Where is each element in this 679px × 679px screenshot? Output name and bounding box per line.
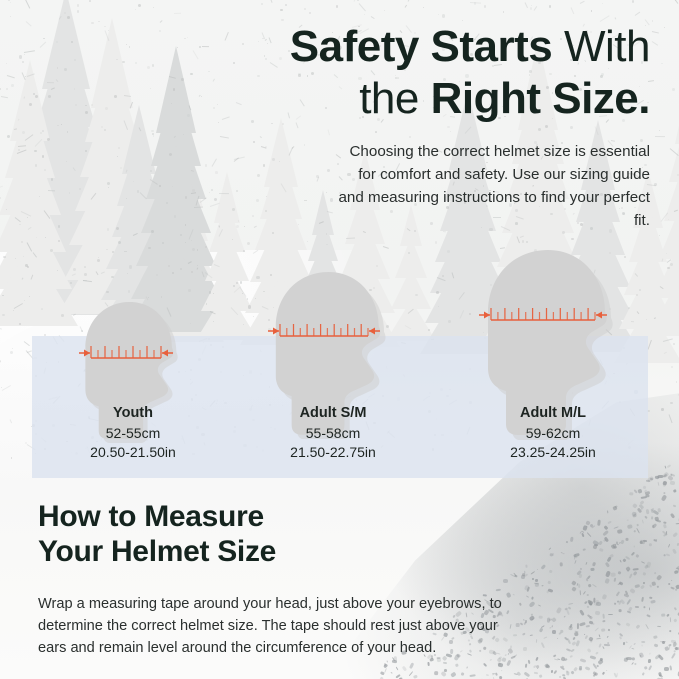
- size-card: Adult M/L59-62cm23.25-24.25in: [0, 240, 679, 480]
- size-labels: Adult M/L59-62cm23.25-24.25in: [443, 403, 663, 463]
- helmet-sizing-infographic: Safety Starts With the Right Size. Choos…: [0, 0, 679, 679]
- size-inches: 23.25-24.25in: [443, 443, 663, 463]
- heading-bold-2: Right Size.: [431, 74, 650, 123]
- how-title-line-2: Your Helmet Size: [38, 535, 458, 570]
- how-to-measure-body: Wrap a measuring tape around your head, …: [38, 593, 528, 660]
- how-to-measure-title: How to Measure Your Helmet Size: [38, 500, 458, 570]
- intro-paragraph: Choosing the correct helmet size is esse…: [330, 140, 650, 232]
- heading-line-1: Safety Starts With: [220, 24, 650, 70]
- head-circumference-tape: [478, 303, 608, 330]
- how-title-line-1: How to Measure: [38, 500, 458, 535]
- heading-bold-1: Safety Starts: [290, 22, 553, 71]
- size-cm: 59-62cm: [443, 424, 663, 444]
- heading-light-1: With: [564, 22, 650, 71]
- heading-line-2: the Right Size.: [220, 76, 650, 122]
- size-name: Adult M/L: [443, 403, 663, 424]
- page-title: Safety Starts With the Right Size.: [220, 24, 650, 122]
- size-chart: Youth52-55cm20.50-21.50inAdult S/M55-58c…: [0, 240, 679, 480]
- heading-light-2: the: [359, 74, 419, 123]
- measuring-tape-icon: [478, 303, 608, 325]
